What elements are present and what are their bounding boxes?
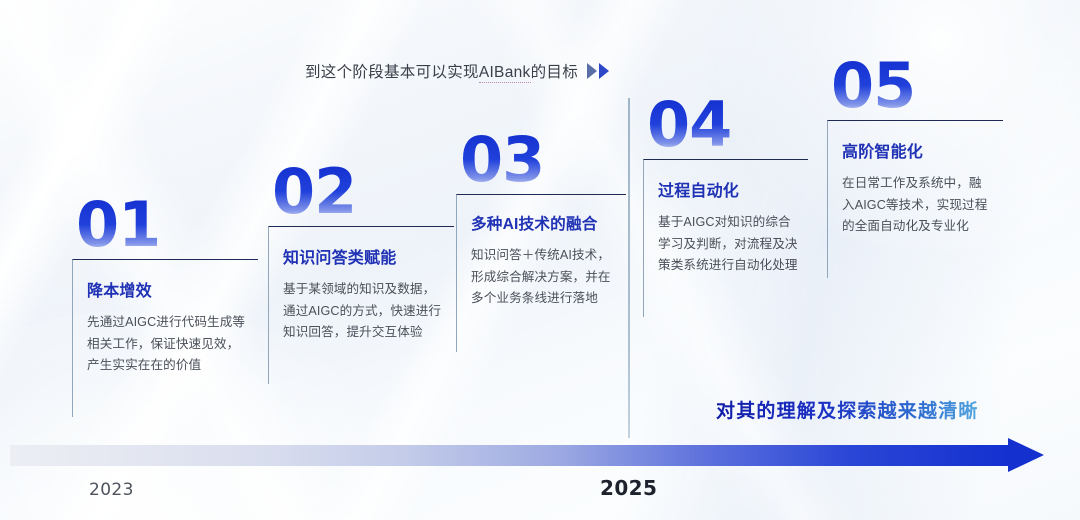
step-item-04: 04 过程自动化 基于AIGC对知识的综合学习及判断，对流程及决策类系统进行自动… bbox=[643, 96, 808, 317]
infographic-canvas: 到这个阶段基本可以实现AIBank的目标 01 降本增效 先通过AIGC进行代码… bbox=[0, 0, 1080, 520]
step-card-04: 过程自动化 基于AIGC对知识的综合学习及判断，对流程及决策类系统进行自动化处理 bbox=[643, 159, 808, 317]
step-body-04: 基于AIGC对知识的综合学习及判断，对流程及决策类系统进行自动化处理 bbox=[658, 212, 798, 277]
step-card-02: 知识问答类赋能 基于某领域的知识及数据，通过AIGC的方式，快速进行知识回答，提… bbox=[268, 226, 454, 384]
timeline-bar bbox=[10, 445, 1010, 466]
chevron-right-double-icon bbox=[587, 63, 609, 79]
step-body-03: 知识问答＋传统AI技术，形成综合解决方案，并在多个业务条线进行落地 bbox=[471, 245, 616, 310]
step-item-03: 03 多种AI技术的融合 知识问答＋传统AI技术，形成综合解决方案，并在多个业务… bbox=[456, 131, 626, 352]
chevron-right-icon-1 bbox=[587, 63, 597, 79]
arrow-right-icon bbox=[1008, 438, 1044, 472]
tagline: 对其的理解及探索越来越清晰 bbox=[716, 396, 979, 423]
step-body-02: 基于某领域的知识及数据，通过AIGC的方式，快速进行知识回答，提升交互体验 bbox=[283, 279, 444, 344]
step-title-04: 过程自动化 bbox=[658, 177, 798, 201]
timeline-arrow bbox=[10, 438, 1070, 472]
top-annotation: 到这个阶段基本可以实现AIBank的目标 bbox=[305, 60, 609, 82]
step-number-05: 05 bbox=[831, 57, 1003, 116]
step-title-05: 高阶智能化 bbox=[842, 138, 993, 162]
step-card-05: 高阶智能化 在日常工作及系统中，融入AIGC等技术，实现过程的全面自动化及专业化 bbox=[827, 120, 1003, 278]
top-annotation-highlight: AIBank bbox=[479, 64, 531, 83]
step-card-01: 降本增效 先通过AIGC进行代码生成等相关工作，保证快速见效，产生实实在在的价值 bbox=[72, 259, 258, 417]
step-item-01: 01 降本增效 先通过AIGC进行代码生成等相关工作，保证快速见效，产生实实在在… bbox=[72, 196, 258, 417]
step-body-01: 先通过AIGC进行代码生成等相关工作，保证快速见效，产生实实在在的价值 bbox=[87, 312, 248, 377]
step-title-02: 知识问答类赋能 bbox=[283, 244, 444, 268]
step-title-01: 降本增效 bbox=[87, 277, 248, 301]
step-title-03: 多种AI技术的融合 bbox=[471, 212, 616, 234]
step-item-05: 05 高阶智能化 在日常工作及系统中，融入AIGC等技术，实现过程的全面自动化及… bbox=[827, 57, 1003, 278]
top-annotation-prefix: 到这个阶段基本可以实现 bbox=[305, 64, 479, 81]
milestone-divider-2025 bbox=[628, 98, 630, 438]
step-body-05: 在日常工作及系统中，融入AIGC等技术，实现过程的全面自动化及专业化 bbox=[842, 173, 993, 238]
step-item-02: 02 知识问答类赋能 基于某领域的知识及数据，通过AIGC的方式，快速进行知识回… bbox=[268, 163, 454, 384]
step-number-03: 03 bbox=[460, 131, 626, 190]
step-number-02: 02 bbox=[272, 163, 454, 222]
timeline-year-2023: 2023 bbox=[89, 480, 134, 500]
top-annotation-text: 到这个阶段基本可以实现AIBank的目标 bbox=[305, 60, 578, 82]
timeline-year-2025: 2025 bbox=[600, 476, 657, 500]
chevron-right-icon-2 bbox=[599, 63, 609, 79]
step-number-04: 04 bbox=[647, 96, 808, 155]
step-card-03: 多种AI技术的融合 知识问答＋传统AI技术，形成综合解决方案，并在多个业务条线进… bbox=[456, 194, 626, 352]
step-number-01: 01 bbox=[76, 196, 258, 255]
top-annotation-suffix: 的目标 bbox=[531, 64, 578, 81]
